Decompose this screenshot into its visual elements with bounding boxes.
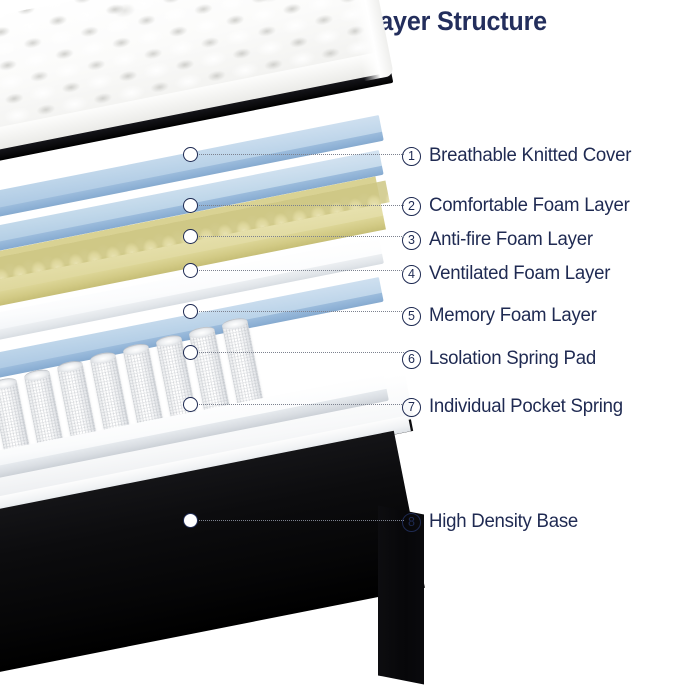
layer-number-2: 2 — [402, 197, 421, 216]
leader-line-5 — [196, 311, 404, 312]
layer-label-text-3: Anti-fire Foam Layer — [429, 229, 593, 251]
leader-line-6 — [196, 352, 404, 353]
layer-label-3[interactable]: 3 Anti-fire Foam Layer — [402, 229, 596, 251]
layer-number-3: 3 — [402, 231, 421, 250]
layer-label-8[interactable]: 8 High Density Base — [402, 511, 581, 533]
layer-label-4[interactable]: 4 Ventilated Foam Layer — [402, 263, 614, 285]
callout-marker-4[interactable] — [183, 263, 198, 278]
layer-number-7: 7 — [402, 398, 421, 417]
callout-marker-6[interactable] — [183, 345, 198, 360]
mattress-illustration — [0, 34, 400, 657]
layer-label-6[interactable]: 6 Lsolation Spring Pad — [402, 348, 599, 370]
layer-number-6: 6 — [402, 350, 421, 369]
layer-label-text-2: Comfortable Foam Layer — [429, 195, 630, 217]
layer-label-text-4: Ventilated Foam Layer — [429, 263, 610, 285]
layer-label-2[interactable]: 2 Comfortable Foam Layer — [402, 195, 634, 217]
leader-line-7 — [196, 404, 404, 405]
layer-label-text-1: Breathable Knitted Cover — [429, 145, 631, 167]
leader-line-2 — [196, 205, 404, 206]
callout-marker-8[interactable] — [183, 513, 198, 528]
callout-marker-1[interactable] — [183, 147, 198, 162]
callout-marker-7[interactable] — [183, 397, 198, 412]
callout-marker-2[interactable] — [183, 198, 198, 213]
infographic-canvas: Comfort & Perfect 8-layer Structure — [0, 0, 679, 657]
layer-label-text-5: Memory Foam Layer — [429, 305, 597, 327]
leader-line-3 — [196, 236, 404, 237]
layer-label-list: 1 Breathable Knitted Cover 2 Comfortable… — [402, 0, 679, 657]
layer-label-text-7: Individual Pocket Spring — [429, 396, 623, 418]
layer-label-1[interactable]: 1 Breathable Knitted Cover — [402, 145, 635, 167]
callout-marker-5[interactable] — [183, 304, 198, 319]
callout-marker-3[interactable] — [183, 229, 198, 244]
layer-number-5: 5 — [402, 307, 421, 326]
layer-label-text-8: High Density Base — [429, 511, 578, 533]
leader-line-8 — [196, 520, 404, 521]
leader-line-4 — [196, 270, 404, 271]
layer-graphic-high-density-base — [0, 482, 420, 692]
layer-label-5[interactable]: 5 Memory Foam Layer — [402, 305, 600, 327]
layer-label-7[interactable]: 7 Individual Pocket Spring — [402, 396, 627, 418]
layer-number-8: 8 — [402, 513, 421, 532]
layer-label-text-6: Lsolation Spring Pad — [429, 348, 596, 370]
layer-number-1: 1 — [402, 147, 421, 166]
leader-line-1 — [196, 154, 404, 155]
layer-number-4: 4 — [402, 265, 421, 284]
